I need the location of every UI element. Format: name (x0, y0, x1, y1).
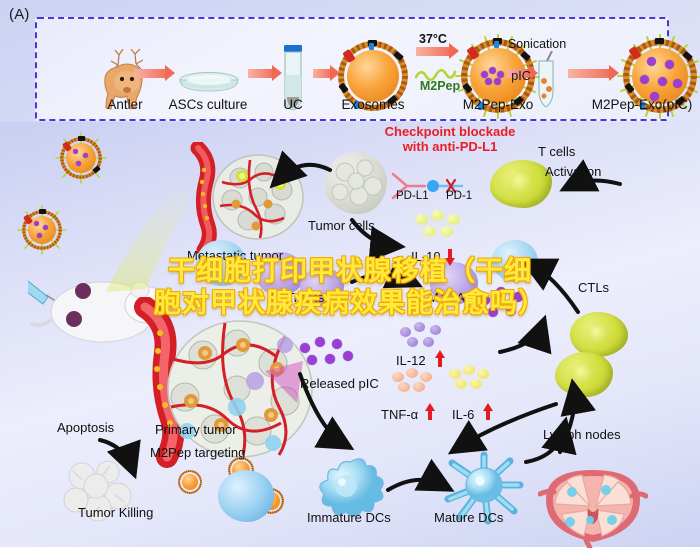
il-12-label: IL-12 (396, 353, 426, 368)
t-cells-label: T cells (538, 144, 575, 159)
pd-1-label: PD-1 (446, 190, 472, 202)
tnf-alpha-cytokine-cluster (392, 368, 440, 398)
process-arrow (134, 69, 166, 78)
targeted-macrophage-icon (218, 470, 274, 522)
m1-tam-icon (196, 240, 246, 286)
panel-a-container: Antler ASCs culture UC Exosomes M2Pep-Ex… (35, 17, 669, 121)
step-label-antler: Antler (107, 97, 142, 112)
immature-dcs-label: Immature DCs (307, 510, 391, 525)
panel-a-tag: (A) (9, 6, 30, 23)
step-label-m2pep-exo-pic: M2Pep-Exo(pIC) (592, 97, 693, 112)
step-label-m2pep-exo: M2Pep-Exo (463, 97, 534, 112)
lymph-nodes-label: Lymph nodes (543, 427, 621, 442)
annotation-sonication: Sonication (508, 37, 566, 51)
fluorescence-beam (58, 187, 188, 297)
ctls-label: CTLs (578, 280, 609, 295)
checkpoint-line-2: with anti-PD-L1 (403, 139, 498, 154)
metastatic-tumor-icon (180, 142, 315, 257)
primary-tumor-label: Primary tumor (155, 422, 237, 437)
released-pic-label: Released pIC (300, 376, 379, 391)
m2pep-targeting-label: M2Pep targeting (150, 445, 245, 460)
pd-l1-label: PD-L1 (396, 190, 429, 202)
membrane-protein (655, 38, 664, 44)
step-label-exosomes: Exosomes (341, 97, 404, 112)
process-arrow (248, 69, 273, 78)
il-10-label: IL-10 (411, 249, 441, 264)
scientific-figure: (A) (0, 0, 700, 547)
membrane-protein (494, 41, 499, 48)
released-pic-cluster-right (480, 287, 536, 323)
tnf-alpha-label: TNF-α (381, 407, 418, 422)
checkpoint-line-1: Checkpoint blockade (385, 124, 516, 139)
m2-tams-label: M2 TAMs (270, 290, 324, 305)
circulating-exosome-icon (22, 210, 62, 250)
panel-b-container: Checkpoint blockade with anti-PD-L1 T ce… (0, 122, 700, 547)
process-arrow (313, 69, 331, 78)
pic-cargo (658, 77, 667, 86)
checkpoint-blockade-label: Checkpoint blockade with anti-PD-L1 (372, 124, 528, 154)
pic-cluster-icon (481, 67, 507, 87)
pic-cargo (673, 79, 682, 88)
t-cell-icon (490, 160, 552, 208)
ctl-cell-icon (555, 352, 613, 397)
process-arrow (416, 47, 450, 56)
step-label-ascs: ASCs culture (169, 97, 248, 112)
circulating-exosome-icon (60, 137, 102, 179)
tumor-cells-texture (325, 152, 387, 214)
annotation-temperature: 37°C (419, 32, 447, 46)
m1-tam-icon (492, 240, 538, 282)
il-12-cytokine-cluster (400, 322, 448, 352)
il-6-cytokine-cluster (449, 365, 497, 395)
metastatic-tumor-label: Metastatic tumor (187, 248, 283, 263)
ctl-cell-icon (570, 312, 628, 357)
tumor-killing-label: Tumor Killing (78, 505, 153, 520)
mature-dcs-label: Mature DCs (434, 510, 503, 525)
tumor-cells-label: Tumor cells (308, 218, 375, 233)
petri-dish-icon (177, 71, 241, 97)
apoptosis-label: Apoptosis (57, 420, 114, 435)
activation-label: Activation (545, 164, 601, 179)
pic-cargo (647, 57, 656, 66)
il-6-label: IL-6 (452, 407, 474, 422)
apoptotic-tumor-icon (58, 452, 138, 532)
step-label-uc: UC (283, 97, 303, 112)
annotation-m2pep: M2Pep (420, 79, 460, 93)
pic-cargo (665, 60, 674, 69)
il-10-cytokine-cluster (415, 210, 465, 244)
membrane-protein (369, 43, 374, 50)
lymph-nodes-icon (538, 466, 648, 548)
pic-cargo (640, 75, 649, 84)
annotation-pic: pIC (511, 69, 530, 83)
process-arrow (568, 69, 610, 78)
targeting-exosome-icon (178, 470, 202, 494)
m1-tams-label: M1 TAMs (428, 290, 482, 305)
